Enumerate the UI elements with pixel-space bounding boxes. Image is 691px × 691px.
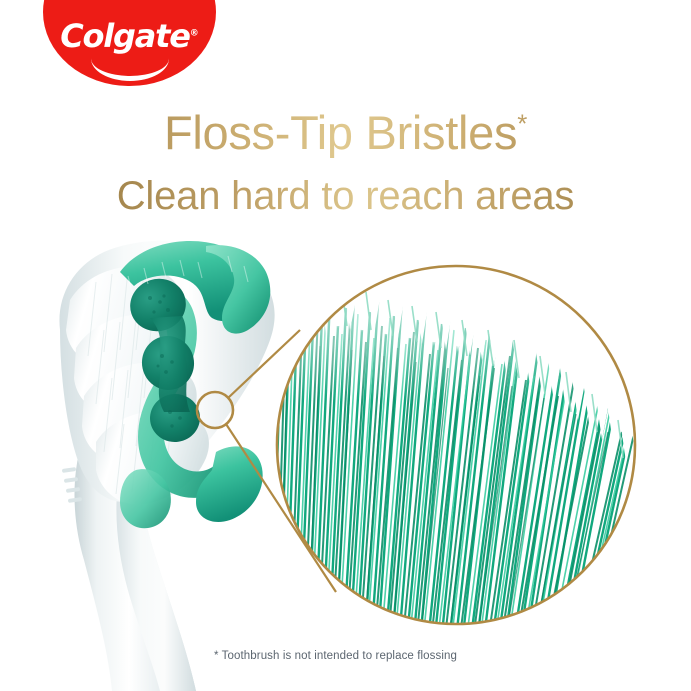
colgate-logo[interactable]: Colgate® xyxy=(43,0,216,86)
registered-mark-icon: ® xyxy=(190,28,199,38)
product-feature-banner: Colgate® Floss-Tip Bristles* Clean hard … xyxy=(0,0,691,691)
footnote-disclaimer: * Toothbrush is not intended to replace … xyxy=(0,650,691,662)
page-title: Floss-Tip Bristles* xyxy=(0,108,691,158)
footnote-marker: * xyxy=(517,108,527,138)
logo-wordmark-text: Colgate xyxy=(60,17,190,55)
logo-wordmark: Colgate® xyxy=(43,20,216,52)
page-subtitle: Clean hard to reach areas xyxy=(0,174,691,218)
page-title-text: Floss-Tip Bristles xyxy=(164,106,517,159)
toothbrush xyxy=(59,241,274,691)
magnifier-large-lens xyxy=(270,260,650,664)
product-artwork xyxy=(0,0,691,691)
